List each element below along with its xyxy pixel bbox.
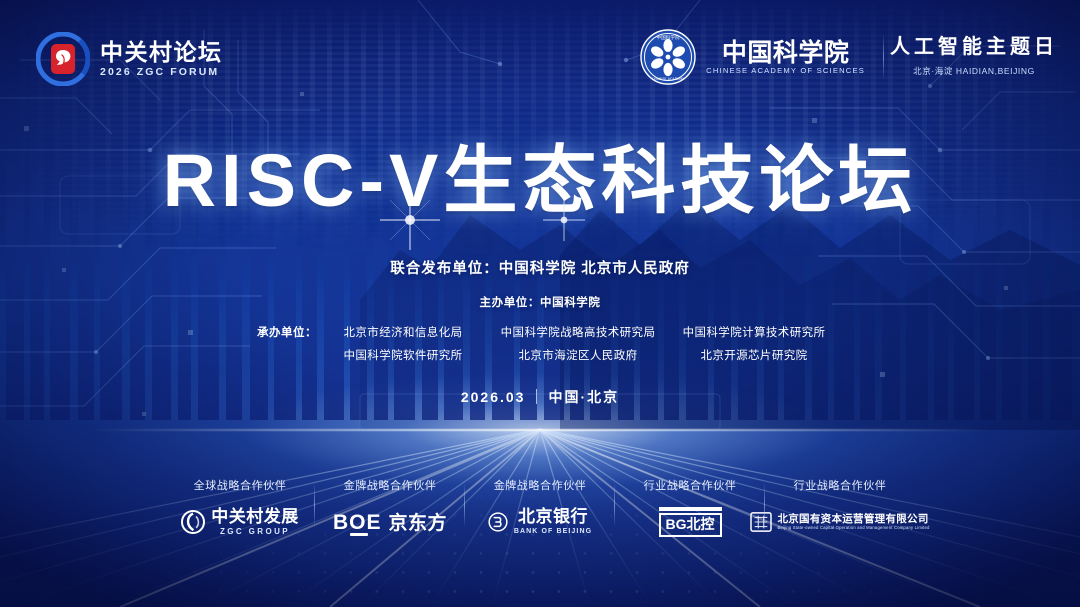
- sponsor-zgc-group: 全球战略合作伙伴 中关村发展 ZGC GROUP: [165, 481, 315, 535]
- zgc-group-wordmark: 中关村发展 ZGC GROUP: [211, 508, 299, 536]
- sponsor-name-mark: BOE: [333, 512, 382, 533]
- sponsor-name-en: BANK OF BEIJING: [514, 528, 592, 535]
- organizers-block: 承办单位： 北京市经济和信息化局 中国科学院战略高技术研究局 中国科学院计算技术…: [239, 328, 841, 362]
- organizer-name: 中国科学院战略高技术研究局: [489, 328, 667, 340]
- bg-beikong-bar: [659, 507, 722, 511]
- organizer-name: 北京市海淀区人民政府: [489, 351, 667, 363]
- sponsor-bank-of-beijing: 金牌战略合作伙伴 北京银行 BANK OF BEIJING: [465, 481, 615, 535]
- date-location-separator: [536, 389, 537, 404]
- co-publish-line: 联合发布单位：中国科学院 北京市人民政府: [0, 262, 1080, 277]
- bank-of-beijing-wordmark: 北京银行 BANK OF BEIJING: [514, 508, 592, 535]
- main-title-area: RISC-V生态科技论坛: [0, 144, 1080, 218]
- beijing-state-capital-wordmark: 北京国有资本运营管理有限公司 Beijing State-owned Capit…: [750, 512, 929, 532]
- header-divider: [883, 34, 884, 80]
- zgc-forum-wordmark: 中关村论坛 2026 ZGC FORUM: [100, 41, 223, 78]
- svg-text:中国科学院: 中国科学院: [657, 34, 680, 41]
- sponsor-name-cn: 中关村发展: [211, 508, 299, 526]
- event-poster: 中关村论坛 2026 ZGC FORUM: [0, 0, 1080, 607]
- organizer-name: 中国科学院计算技术研究所: [667, 328, 841, 340]
- ai-theme-day-block: 人工智能主题日 北京·海淀 HAIDIAN,BEIJING: [890, 36, 1058, 77]
- host-line: 主办单位：中国科学院: [0, 298, 1080, 310]
- poster-header: 中关村论坛 2026 ZGC FORUM: [0, 0, 1080, 104]
- cas-name-en: CHINESE ACADEMY OF SCIENCES: [706, 67, 865, 75]
- event-date: 2026.03: [461, 390, 526, 404]
- credits-block: 联合发布单位：中国科学院 北京市人民政府 主办单位：中国科学院 承办单位： 北京…: [0, 262, 1080, 404]
- zgc-forum-name-en: 2026 ZGC FORUM: [100, 67, 223, 78]
- cas-name-cn: 中国科学院: [722, 40, 850, 65]
- sponsor-row: 全球战略合作伙伴 中关村发展 ZGC GROUP 金牌战略合作伙伴 BOE 京东…: [0, 481, 1080, 535]
- sponsor-name-cn: 北京银行: [518, 508, 588, 526]
- page-title: RISC-V生态科技论坛: [163, 144, 918, 218]
- sponsor-name-en: Beijing State-owned Capital Operation an…: [777, 526, 929, 530]
- cas-wordmark: 中国科学院 CHINESE ACADEMY OF SCIENCES: [706, 40, 865, 75]
- horizon-glow-line: [0, 429, 1080, 431]
- zgc-group-logo-icon: 中关村发展 ZGC GROUP: [181, 509, 299, 535]
- boe-wordmark: BOE 京东方: [333, 512, 447, 533]
- svg-text:CHINESE ACADEMY: CHINESE ACADEMY: [652, 77, 686, 81]
- organizer-name: 中国科学院软件研究所: [317, 351, 489, 363]
- event-location: 中国·北京: [548, 390, 619, 404]
- sponsor-bg-beikong: 行业战略合作伙伴 BG北控: [615, 481, 765, 535]
- sponsor-boe: 金牌战略合作伙伴 BOE 京东方: [315, 481, 465, 535]
- sponsor-tier-label: 行业战略合作伙伴: [794, 481, 887, 492]
- cas-seal-icon: 中国科学院 CHINESE ACADEMY: [639, 28, 697, 86]
- sponsor-tier-label: 金牌战略合作伙伴: [344, 481, 437, 492]
- bank-of-beijing-logo-icon: 北京银行 BANK OF BEIJING: [488, 509, 592, 535]
- zgc-forum-emblem-icon: [36, 32, 90, 86]
- sponsor-name-cn: 京东方: [389, 514, 448, 533]
- organizer-name: 北京市经济和信息化局: [317, 328, 489, 340]
- beijing-state-capital-text: 北京国有资本运营管理有限公司 Beijing State-owned Capit…: [777, 514, 929, 531]
- bg-beikong-wordmark: BG北控: [659, 507, 722, 537]
- sponsor-tier-label: 金牌战略合作伙伴: [494, 481, 587, 492]
- sponsor-tier-label: 全球战略合作伙伴: [194, 481, 287, 492]
- organizer-row: 承办单位： 北京市经济和信息化局 中国科学院战略高技术研究局 中国科学院计算技术…: [239, 328, 841, 340]
- bg-beikong-logo-icon: BG北控: [659, 509, 722, 535]
- event-date-location: 2026.03 中国·北京: [0, 389, 1080, 404]
- ai-theme-day-title: 人工智能主题日: [890, 36, 1058, 58]
- sponsor-tier-label: 行业战略合作伙伴: [644, 481, 737, 492]
- zgc-forum-logo: 中关村论坛 2026 ZGC FORUM: [36, 32, 223, 86]
- organizer-row: 中国科学院软件研究所 北京市海淀区人民政府 北京开源芯片研究院: [239, 351, 841, 363]
- sponsor-name-en: ZGC GROUP: [220, 528, 290, 536]
- bg-beikong-box: BG北控: [659, 513, 722, 537]
- sponsor-beijing-state-capital: 行业战略合作伙伴 北京国有资本运营管理有限公司 Beijing State-ow…: [765, 481, 915, 535]
- organizer-name: 北京开源芯片研究院: [667, 351, 841, 363]
- beijing-state-capital-logo-icon: 北京国有资本运营管理有限公司 Beijing State-owned Capit…: [750, 509, 929, 535]
- sponsor-name-cn: BG北控: [666, 516, 715, 534]
- organizer-label: 承办单位：: [239, 328, 317, 340]
- cas-logo: 中国科学院 CHINESE ACADEMY 中国科学院 CHINESE ACAD…: [639, 28, 865, 86]
- ai-theme-day-location: 北京·海淀 HAIDIAN,BEIJING: [890, 65, 1058, 77]
- zgc-forum-name-cn: 中关村论坛: [100, 41, 223, 64]
- sponsor-name-cn: 北京国有资本运营管理有限公司: [777, 514, 929, 525]
- boe-logo-icon: BOE 京东方: [333, 509, 447, 535]
